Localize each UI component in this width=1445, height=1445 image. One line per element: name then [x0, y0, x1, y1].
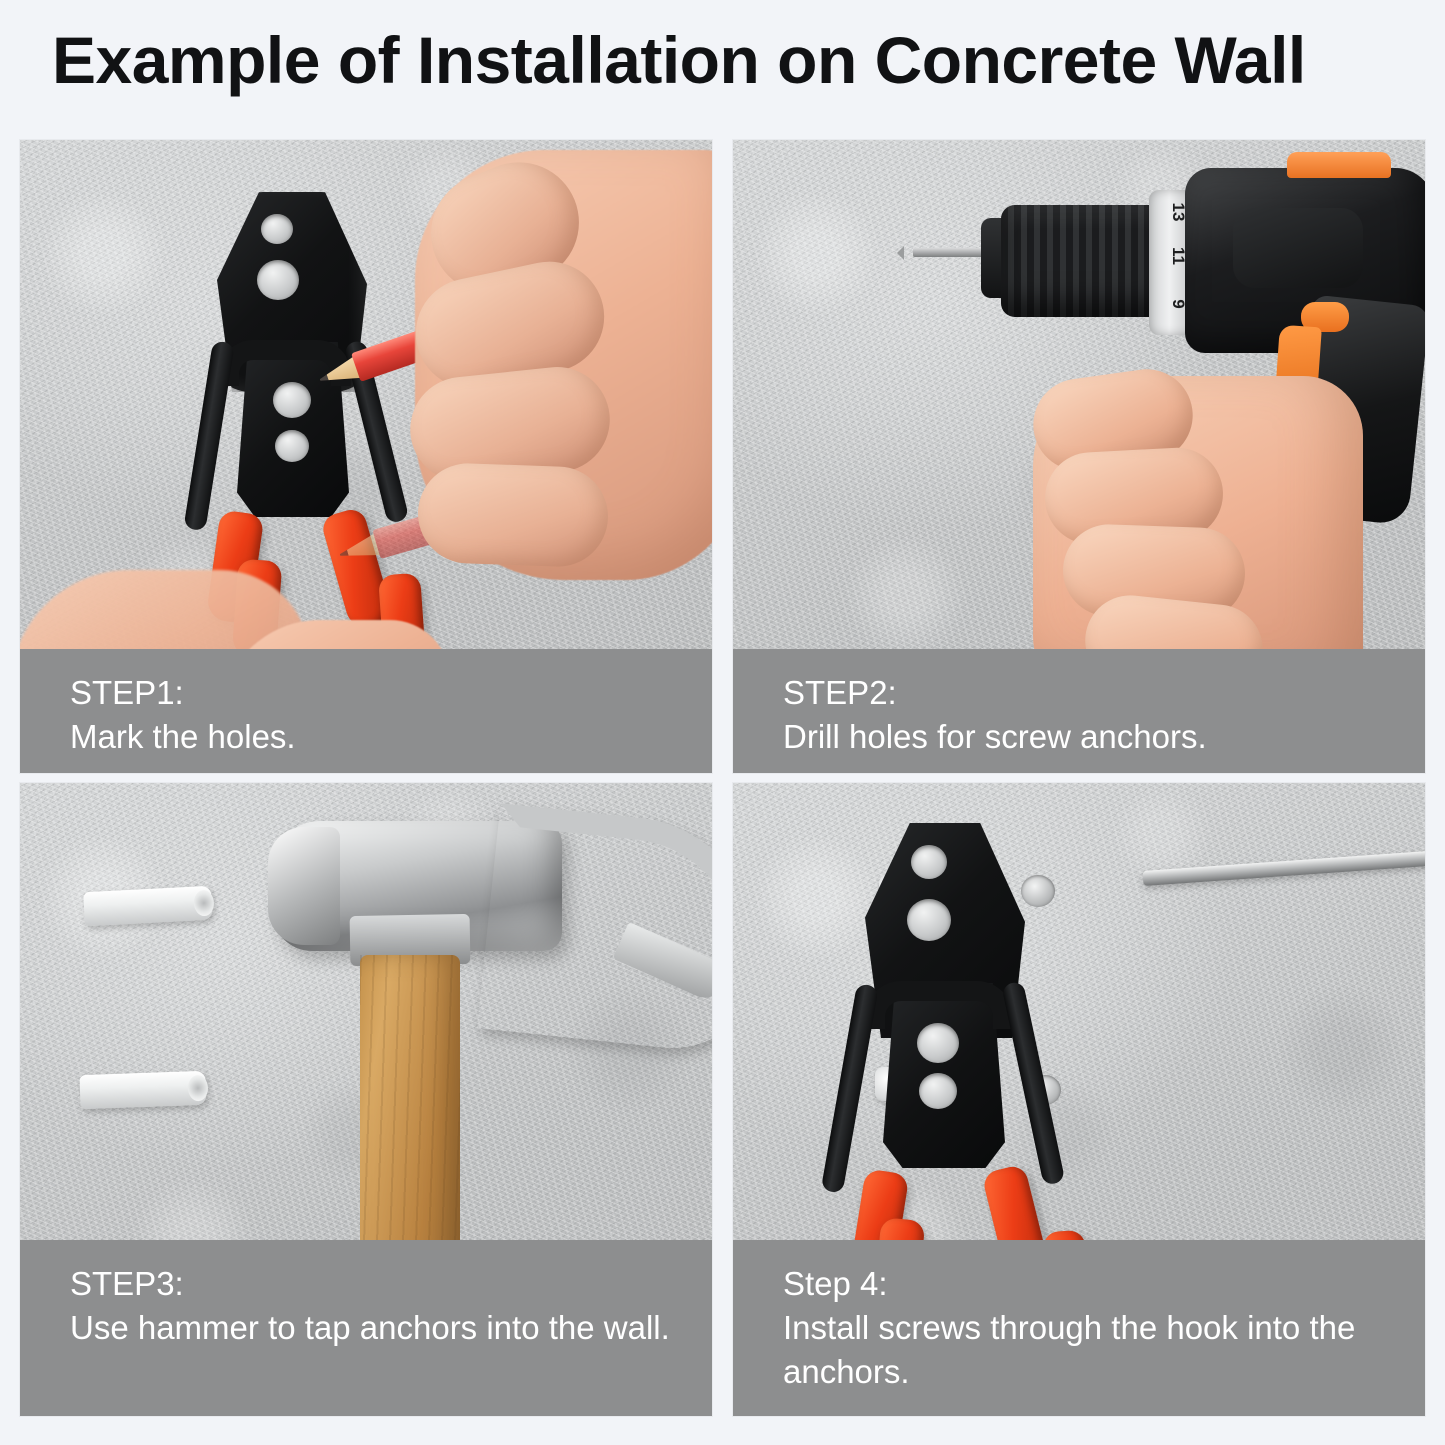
mounting-hole-icon: [275, 430, 309, 462]
mounting-hole-icon: [257, 260, 299, 300]
step-3-label: STEP3:: [70, 1262, 712, 1306]
step-4-label: Step 4:: [783, 1262, 1425, 1306]
drill-chuck: [1001, 205, 1161, 317]
screw-head: [1021, 875, 1055, 907]
mounting-hole-icon: [907, 899, 951, 941]
step-1-caption: STEP1: Mark the holes.: [20, 649, 712, 773]
step-4-description: Install screws through the hook into the…: [783, 1306, 1383, 1394]
step-2-label: STEP2:: [783, 671, 1425, 715]
step-3-caption: STEP3: Use hammer to tap anchors into th…: [20, 1240, 712, 1416]
wall-hook-bracket: [843, 823, 1073, 1293]
step-1-label: STEP1:: [70, 671, 712, 715]
hammer-claw: [477, 803, 712, 1057]
step-panel-4: Step 4: Install screws through the hook …: [733, 783, 1425, 1416]
step-2-caption: STEP2: Drill holes for screw anchors.: [733, 649, 1425, 773]
step-panel-1: STEP1: Mark the holes.: [20, 140, 712, 773]
mounting-hole-icon: [917, 1023, 959, 1063]
step-panel-3: STEP3: Use hammer to tap anchors into th…: [20, 783, 712, 1416]
step-3-description: Use hammer to tap anchors into the wall.: [70, 1306, 670, 1350]
step-4-caption: Step 4: Install screws through the hook …: [733, 1240, 1425, 1416]
drill-top-button: [1287, 152, 1391, 178]
mounting-hole-icon: [911, 845, 947, 879]
mounting-hole-icon: [273, 382, 311, 418]
hook-yoke: [865, 981, 1013, 1029]
steps-grid: STEP1: Mark the holes. 13 11 9: [20, 140, 1425, 1414]
drill-body-pad: [1233, 208, 1363, 288]
mounting-hole-icon: [261, 214, 293, 244]
wall-anchor: [79, 1071, 206, 1109]
wall-anchor: [83, 886, 213, 927]
installation-guide-page: Example of Installation on Concrete Wall: [0, 0, 1445, 1445]
mounting-hole-icon: [919, 1073, 957, 1109]
step-panel-2: 13 11 9 STEP2: Drill holes for screw anc…: [733, 140, 1425, 773]
step-2-description: Drill holes for screw anchors.: [783, 715, 1383, 759]
hammer-face: [268, 827, 340, 945]
finger: [416, 462, 609, 569]
page-title: Example of Installation on Concrete Wall: [52, 26, 1402, 96]
step-1-description: Mark the holes.: [70, 715, 670, 759]
